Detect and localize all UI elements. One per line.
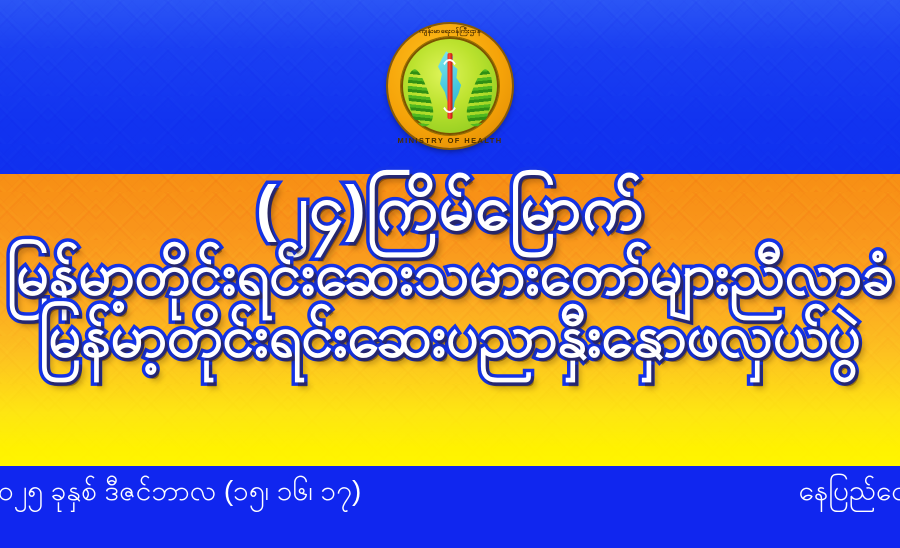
seal-burmese-text: ကျန်းမာရေးဝန်ကြီးဌာန xyxy=(388,27,512,37)
banner-footer: ၂၀၂၅ ခုနှစ် ဒီဇင်ဘာလ (၁၅၊ ၁၆၊ ၁၇) နေပြည်… xyxy=(0,466,900,548)
headline-line-3-forum-title: မြန်မာ့တိုင်းရင်းဆေးပညာနှီးနှောဖလှယ်ပွဲ xyxy=(7,308,894,366)
footer-event-location: နေပြည်တော် xyxy=(799,476,900,507)
serpent-icon xyxy=(439,59,461,113)
footer-event-date: ၂၀၂၅ ခုနှစ် ဒီဇင်ဘာလ (၁၅၊ ၁၆၊ ၁၇) xyxy=(0,476,361,507)
headline-line-2-conference-title: မြန်မာ့တိုင်းရင်းဆေးသမားတော်များညီလာခံ န… xyxy=(7,246,894,304)
headline-line-1-edition: (၂၄)ကြိမ်မြောက် xyxy=(0,178,900,240)
banner-headline: (၂၄)ကြိမ်မြောက် မြန်မာ့တိုင်းရင်းဆေးသမား… xyxy=(0,178,900,366)
laurel-wreath-left-icon xyxy=(401,67,436,129)
ministry-of-health-seal-icon: ကျန်းမာရေးဝန်ကြီးဌာန MINISTRY OF HEALTH xyxy=(388,24,512,148)
seal-inner-disc xyxy=(401,37,499,135)
conference-banner: ကျန်းမာရေးဝန်ကြီးဌာန MINISTRY OF HEALTH … xyxy=(0,0,900,548)
seal-outer-ring: ကျန်းမာရေးဝန်ကြီးဌာန MINISTRY OF HEALTH xyxy=(388,24,512,148)
laurel-wreath-right-icon xyxy=(463,67,498,129)
seal-english-text: MINISTRY OF HEALTH xyxy=(388,136,512,145)
